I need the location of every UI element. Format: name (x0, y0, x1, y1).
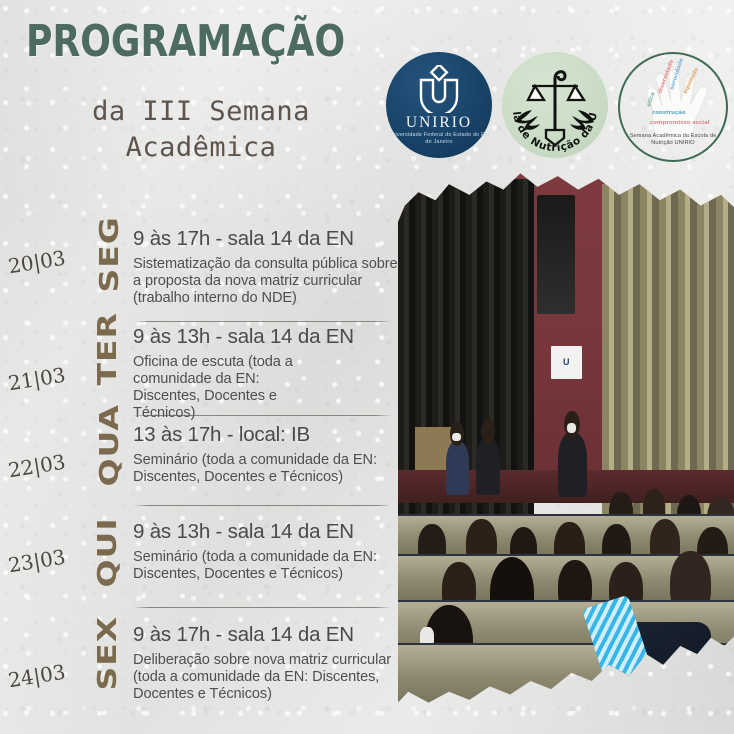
schedule-row: 24|03 SEX 9 às 17h - sala 14 da EN Delib… (0, 620, 400, 719)
row-description: Seminário (toda a comunidade da EN: Disc… (133, 549, 398, 583)
schedule-row: 22|03 QUA 13 às 17h - local: IB Seminári… (0, 422, 400, 521)
escola-de-nutricao-logo: Escola de Nutrição da Unirio (502, 52, 608, 158)
hand-word-construcao: construção (652, 110, 686, 116)
row-divider (133, 607, 391, 608)
row-time-place: 13 às 17h - local: IB (133, 424, 398, 447)
row-time-place: 9 às 17h - sala 14 da EN (133, 624, 398, 647)
scales-caduceus-icon: Escola de Nutrição da Unirio (502, 52, 608, 158)
unirio-logo: UNIRIO Universidade Federal do Estado do… (386, 52, 492, 158)
row-description: Oficina de escuta (toda a comunidade da … (133, 354, 329, 423)
row-weekday: QUI (92, 530, 122, 588)
row-description: Sistematização da consulta pública sobre… (133, 256, 398, 308)
schedule-row: 21|03 TER 9 às 13h - sala 14 da EN Ofici… (0, 323, 400, 422)
svg-text:Escola de Nutrição da Unirio: Escola de Nutrição da Unirio (502, 52, 600, 154)
schedule-list: 20|03 SEG 9 às 17h - sala 14 da EN Siste… (0, 224, 400, 719)
row-date: 22|03 (6, 450, 67, 483)
row-date: 20|03 (6, 246, 67, 279)
row-body: 13 às 17h - local: IB Seminário (toda a … (133, 424, 398, 486)
stage-person-2-head (481, 419, 495, 444)
stage-person-1 (446, 441, 470, 495)
schedule-row: 20|03 SEG 9 às 17h - sala 14 da EN Siste… (0, 224, 400, 323)
escola-arc-text: Escola de Nutrição da Unirio (502, 52, 600, 154)
row-divider (133, 415, 391, 416)
stage-person-3 (558, 433, 587, 498)
row-body: 9 às 17h - sala 14 da EN Sistematização … (133, 228, 398, 307)
row-time-place: 9 às 13h - sala 14 da EN (133, 326, 398, 349)
stage-person-3-mask (567, 423, 577, 433)
row-time-place: 9 às 13h - sala 14 da EN (133, 521, 398, 544)
row-body: 9 às 13h - sala 14 da EN Oficina de escu… (133, 326, 398, 422)
unirio-tagline: Universidade Federal do Estado do Rio de… (386, 132, 492, 146)
stage-sign-label: U (563, 358, 570, 367)
stage-person-1-mask (452, 433, 460, 442)
row-body: 9 às 13h - sala 14 da EN Seminário (toda… (133, 521, 398, 583)
unirio-monogram-icon (417, 65, 461, 113)
row-date: 23|03 (6, 545, 67, 578)
semana-caption: Semana Acadêmica da Escola de Nutrição U… (620, 133, 726, 148)
row-divider (133, 321, 391, 322)
poster-canvas: PROGRAMAÇÃO da III Semana Acadêmica UNIR… (0, 0, 734, 734)
row-weekday: SEX (92, 633, 122, 691)
row-body: 9 às 17h - sala 14 da EN Deliberação sob… (133, 624, 398, 703)
row-weekday: TER (92, 328, 122, 386)
semana-academica-logo: ética diversidade sororidade equidade co… (618, 52, 728, 162)
row-description: Seminário (toda a comunidade da EN: Disc… (133, 452, 398, 486)
row-time-place: 9 às 17h - sala 14 da EN (133, 228, 398, 251)
row-date: 21|03 (6, 363, 67, 396)
row-weekday: QUA (94, 425, 124, 487)
row-description: Deliberação sobre nova matriz curricular… (133, 652, 395, 704)
logo-row: UNIRIO Universidade Federal do Estado do… (386, 52, 728, 162)
hand-word-compromisso-social: compromisso social (650, 120, 710, 126)
page-title: PROGRAMAÇÃO (26, 20, 345, 64)
stage-person-2 (476, 438, 500, 495)
row-date: 24|03 (6, 660, 67, 693)
seat-row (398, 643, 734, 708)
stage-unirio-sign: U (551, 346, 582, 378)
schedule-row: 23|03 QUI 9 às 13h - sala 14 da EN Semin… (0, 521, 400, 620)
unirio-wordmark: UNIRIO (406, 115, 472, 131)
page-subtitle: da III Semana Acadêmica (26, 94, 376, 165)
ceiling-speaker (537, 195, 574, 314)
photo-scene: U (398, 168, 734, 708)
row-weekday: SEG (94, 231, 124, 293)
row-divider (133, 505, 391, 506)
auditorium-photo: U (398, 168, 734, 708)
